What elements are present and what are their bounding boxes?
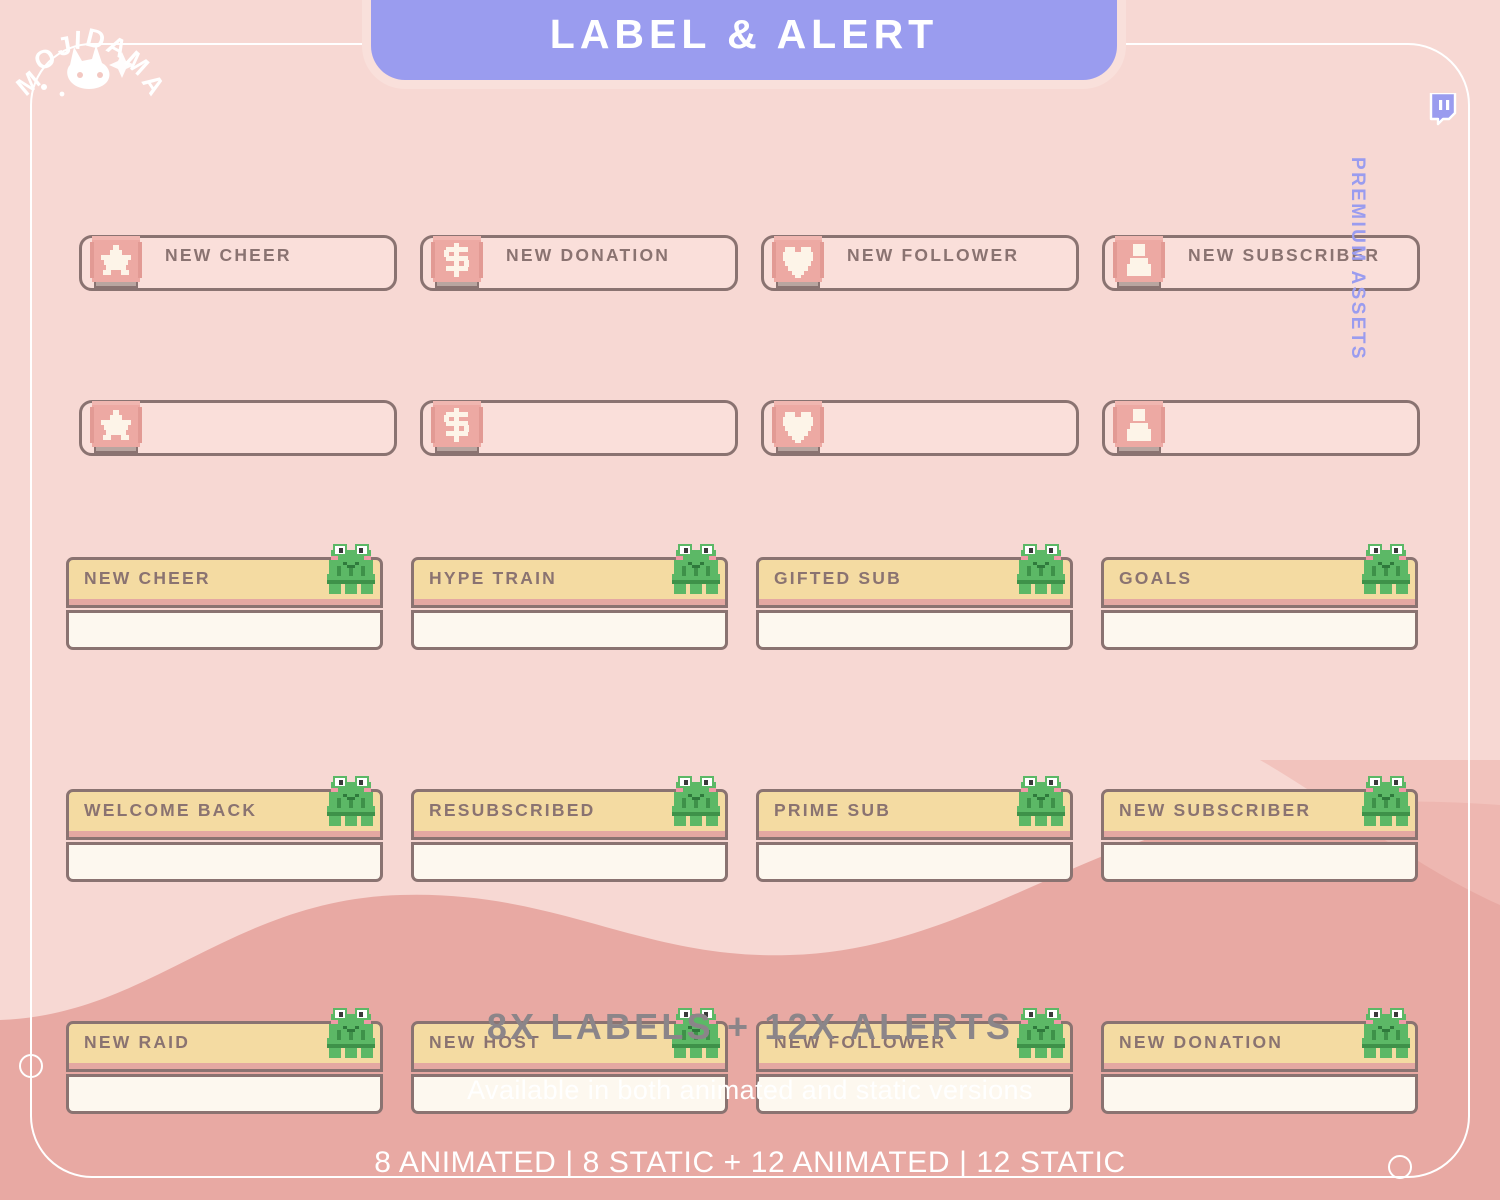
label-bar-blank-subscriber[interactable] [1102, 397, 1420, 459]
alert-row: NEW CHEER [66, 540, 1441, 640]
label-bar-blank-donation[interactable] [420, 397, 738, 459]
frog-icon [1360, 770, 1412, 834]
star-icon [88, 397, 144, 459]
person-icon [1111, 232, 1167, 294]
alert-box-gifted-sub[interactable]: GIFTED SUB [756, 540, 1073, 640]
alert-body-box [66, 610, 383, 650]
label-row-blank [79, 397, 1422, 459]
alert-row: WELCOME BACK RESUBSCRIBED [66, 772, 1441, 872]
label-bar-new-subscriber[interactable]: NEW SUBSCRIBER [1102, 232, 1420, 294]
alert-box-welcome-back[interactable]: WELCOME BACK [66, 772, 383, 872]
frog-icon [1015, 770, 1067, 834]
frog-icon [670, 538, 722, 602]
alert-body-box [756, 842, 1073, 882]
heart-icon [770, 397, 826, 459]
frog-icon [325, 538, 377, 602]
alert-body-box [756, 610, 1073, 650]
label-row-titled: NEW CHEER [79, 232, 1422, 294]
alert-title: GIFTED SUB [774, 568, 902, 589]
alert-title: PRIME SUB [774, 800, 891, 821]
frog-icon [670, 770, 722, 834]
alert-box-prime-sub[interactable]: PRIME SUB [756, 772, 1073, 872]
alert-title: WELCOME BACK [84, 800, 257, 821]
labels-grid: NEW CHEER [79, 232, 1422, 459]
label-bar-text: NEW CHEER [165, 245, 292, 266]
label-bar-text: NEW DONATION [506, 245, 670, 266]
frog-icon [1360, 538, 1412, 602]
alert-body-box [411, 842, 728, 882]
label-bar-new-donation[interactable]: NEW DONATION [420, 232, 738, 294]
label-bar-new-cheer[interactable]: NEW CHEER [79, 232, 397, 294]
alert-box-new-subscriber[interactable]: NEW SUBSCRIBER [1101, 772, 1418, 872]
footer-subtitle: Available in both animated and static ve… [0, 1075, 1500, 1106]
header-tab: LABEL & ALERT [371, 0, 1117, 80]
heart-icon [770, 232, 826, 294]
footer-headline: 8X LABELS + 12X ALERTS [0, 1006, 1500, 1048]
alert-title: NEW SUBSCRIBER [1119, 800, 1311, 821]
dollar-icon [429, 397, 485, 459]
label-bar-blank-follower[interactable] [761, 397, 1079, 459]
svg-text:O: O [29, 41, 60, 77]
alert-title: RESUBSCRIBED [429, 800, 595, 821]
footer-detail: 8 ANIMATED | 8 STATIC + 12 ANIMATED | 12… [0, 1146, 1500, 1180]
alert-title: NEW CHEER [84, 568, 211, 589]
alert-title: GOALS [1119, 568, 1192, 589]
alert-box-hype-train[interactable]: HYPE TRAIN [411, 540, 728, 640]
frog-icon [325, 770, 377, 834]
svg-text:J: J [54, 30, 73, 62]
dollar-icon [429, 232, 485, 294]
label-bar-new-follower[interactable]: NEW FOLLOWER [761, 232, 1079, 294]
premium-assets-badge: PREMIUM ASSETS [1424, 93, 1470, 127]
alert-body-box [66, 842, 383, 882]
alert-box-resubscribed[interactable]: RESUBSCRIBED [411, 772, 728, 872]
page-title: LABEL & ALERT [371, 11, 1117, 58]
person-icon [1111, 397, 1167, 459]
star-icon [88, 232, 144, 294]
label-bar-text: NEW FOLLOWER [847, 245, 1019, 266]
footer: 8X LABELS + 12X ALERTS Available in both… [0, 1006, 1500, 1180]
alert-body-box [1101, 610, 1418, 650]
alert-body-box [1101, 842, 1418, 882]
alert-title: HYPE TRAIN [429, 568, 557, 589]
brand-logo: M O J I D A M A [14, 11, 174, 116]
label-bar-blank-cheer[interactable] [79, 397, 397, 459]
alert-box-new-cheer[interactable]: NEW CHEER [66, 540, 383, 640]
alert-box-goals[interactable]: GOALS [1101, 540, 1418, 640]
frog-icon [1015, 538, 1067, 602]
premium-assets-label: PREMIUM ASSETS [1346, 157, 1368, 367]
twitch-glitch-icon [1428, 93, 1458, 127]
alert-body-box [411, 610, 728, 650]
